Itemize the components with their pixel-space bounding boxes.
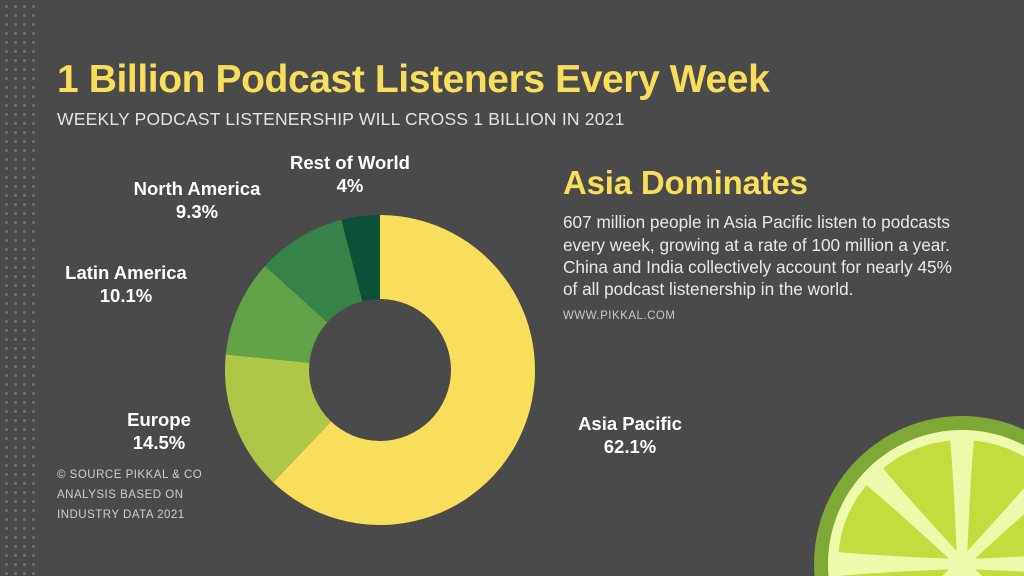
lime-wedge — [839, 569, 949, 576]
lime-wedge — [839, 485, 949, 559]
chart-label-north-america-value: 9.3% — [107, 201, 287, 224]
source-credit-line-1: © SOURCE PIKKAL & CO — [57, 466, 202, 486]
source-credit-line-3: INDUSTRY DATA 2021 — [57, 506, 202, 526]
lime-slice-icon — [812, 414, 1024, 576]
donut-hole — [309, 299, 451, 441]
chart-label-europe-value: 14.5% — [98, 432, 220, 455]
lime-slice-decoration — [812, 414, 1024, 576]
lime-wedge — [883, 441, 957, 551]
chart-label-rest-of-world-value: 4% — [270, 175, 430, 198]
chart-label-north-america-name: North America — [107, 178, 287, 201]
chart-label-europe: Europe 14.5% — [98, 409, 220, 454]
side-panel-url: WWW.PIKKAL.COM — [563, 310, 963, 322]
headline-block: 1 Billion Podcast Listeners Every Week W… — [57, 58, 957, 130]
lime-wedge — [975, 569, 1024, 576]
page-title: 1 Billion Podcast Listeners Every Week — [57, 58, 957, 102]
dotted-texture-strip — [0, 0, 36, 576]
lime-rind — [814, 416, 1024, 576]
donut-chart — [225, 215, 535, 525]
chart-label-asia-pacific-name: Asia Pacific — [565, 413, 695, 436]
source-credit: © SOURCE PIKKAL & CO ANALYSIS BASED ON I… — [57, 466, 202, 525]
side-panel-body: 607 million people in Asia Pacific liste… — [563, 211, 955, 300]
chart-label-asia-pacific-value: 62.1% — [565, 436, 695, 459]
source-credit-line-2: ANALYSIS BASED ON — [57, 486, 202, 506]
donut-chart-svg — [225, 215, 535, 525]
page-subtitle: WEEKLY PODCAST LISTENERSHIP WILL CROSS 1… — [57, 109, 957, 130]
chart-label-asia-pacific: Asia Pacific 62.1% — [565, 413, 695, 458]
chart-label-rest-of-world: Rest of World 4% — [270, 152, 430, 197]
lime-pith — [828, 430, 1024, 576]
chart-label-latin-america-name: Latin America — [40, 262, 212, 285]
lime-wedge — [975, 485, 1024, 559]
lime-wedge — [967, 441, 1024, 551]
chart-label-north-america: North America 9.3% — [107, 178, 287, 223]
chart-label-latin-america-value: 10.1% — [40, 285, 212, 308]
chart-label-rest-of-world-name: Rest of World — [270, 152, 430, 175]
chart-label-europe-name: Europe — [98, 409, 220, 432]
side-panel: Asia Dominates 607 million people in Asi… — [563, 165, 963, 322]
chart-label-latin-america: Latin America 10.1% — [40, 262, 212, 307]
infographic-canvas: 1 Billion Podcast Listeners Every Week W… — [0, 0, 1024, 576]
side-panel-heading: Asia Dominates — [563, 165, 963, 201]
lime-slice-shapes — [814, 416, 1024, 576]
